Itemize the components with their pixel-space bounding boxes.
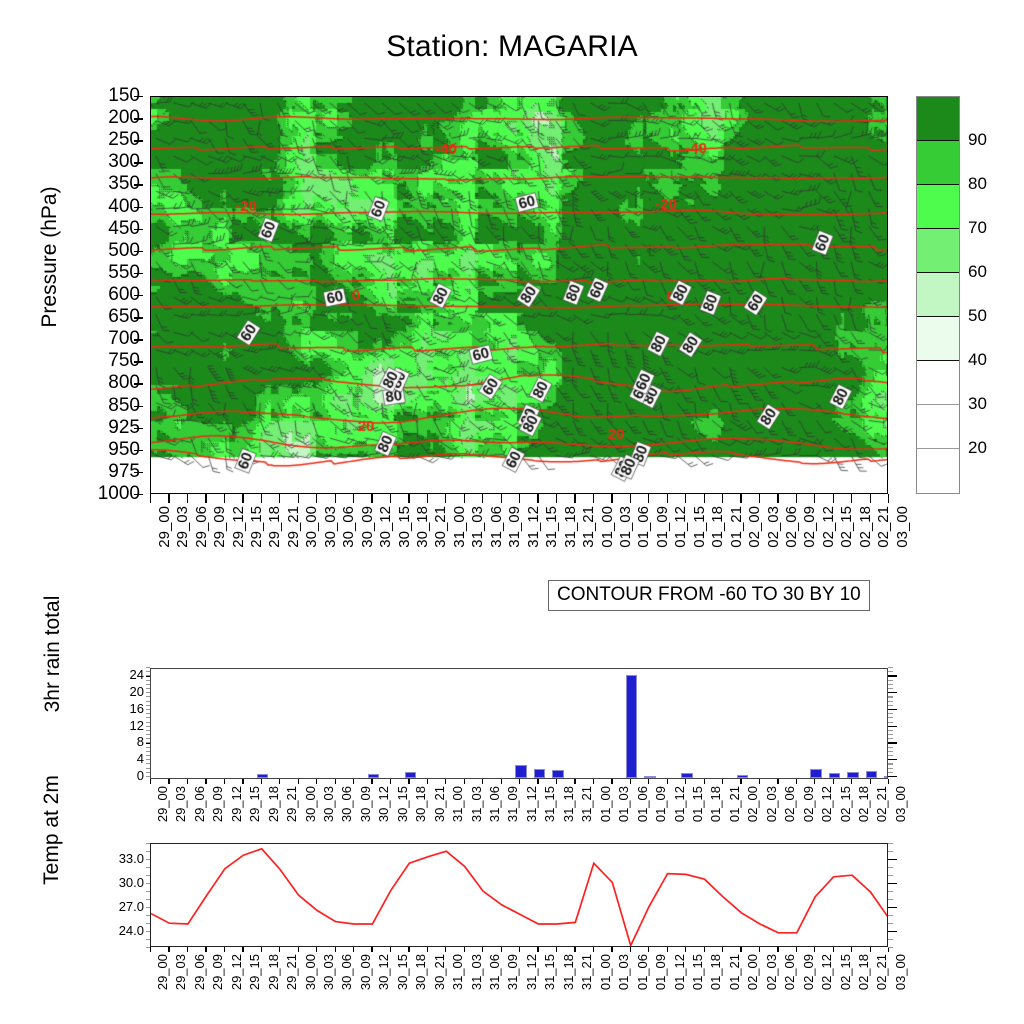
x-tickmark xyxy=(150,779,151,784)
x-axis-label: 29_12 xyxy=(229,786,244,822)
x-tickmark xyxy=(335,779,336,784)
x-axis-label: 29_00 xyxy=(155,786,170,822)
x-tickmark xyxy=(408,494,409,503)
main-y-tickmark xyxy=(134,339,143,340)
x-tickmark xyxy=(648,947,649,952)
x-axis-label: 02_12 xyxy=(819,786,834,822)
x-axis-label: 01_12 xyxy=(672,954,687,990)
main-y-tickmark xyxy=(134,140,143,141)
temp-right-tick xyxy=(888,851,893,852)
x-tickmark xyxy=(833,494,834,503)
x-axis-label: 30_09 xyxy=(358,786,373,822)
x-tickmark xyxy=(648,779,649,784)
main-y-axis-ticks: 1502002503003504004505005506006507007508… xyxy=(78,96,140,494)
rain-bar[interactable] xyxy=(681,773,692,778)
x-axis-label: 02_12 xyxy=(820,506,837,548)
x-tickmark xyxy=(556,494,557,503)
main-y-tick: 750 xyxy=(80,351,140,370)
x-tickmark xyxy=(390,494,391,503)
x-tickmark xyxy=(187,947,188,952)
colorbar-tick-label: 30 xyxy=(968,395,987,412)
x-tickmark xyxy=(704,779,705,784)
x-axis-label: 29_18 xyxy=(266,506,283,548)
x-tickmark xyxy=(851,779,852,784)
x-tickmark xyxy=(353,494,354,503)
x-tickmark xyxy=(888,494,889,503)
x-tickmark xyxy=(888,779,889,784)
temp-right-tick xyxy=(888,843,893,844)
x-tickmark xyxy=(574,779,575,784)
x-axis-label: 01_03 xyxy=(616,954,631,990)
x-axis-label: 01_18 xyxy=(708,786,723,822)
main-y-tickmark xyxy=(134,494,143,495)
x-axis-label: 30_03 xyxy=(321,954,336,990)
temp-right-tick xyxy=(888,883,897,884)
x-tickmark xyxy=(205,947,206,952)
x-axis-label: 31_15 xyxy=(542,786,557,822)
x-tickmark xyxy=(814,494,815,503)
x-tickmark xyxy=(556,947,557,952)
x-axis-label: 02_21 xyxy=(875,506,892,548)
x-axis-label: 29_15 xyxy=(247,786,262,822)
x-axis-label: 01_12 xyxy=(672,506,689,548)
x-axis-label: 01_09 xyxy=(653,954,668,990)
x-axis-label: 31_18 xyxy=(561,954,576,990)
rain-y-axis-ticks: 04812162024 xyxy=(98,668,146,779)
rain-y-tick: 8 xyxy=(98,735,144,748)
main-y-tick: 550 xyxy=(80,263,140,282)
x-axis-label: 29_18 xyxy=(266,954,281,990)
main-y-tick: 950 xyxy=(80,440,140,459)
x-axis-label: 29_06 xyxy=(193,506,210,548)
temp-right-tick xyxy=(888,867,893,868)
x-tickmark xyxy=(261,947,262,952)
rain-y-tick: 4 xyxy=(98,752,144,765)
x-axis-label: 01_03 xyxy=(616,786,631,822)
x-tickmark xyxy=(482,494,483,503)
x-tickmark xyxy=(445,779,446,784)
x-tickmark xyxy=(593,779,594,784)
x-axis-label: 02_00 xyxy=(746,506,763,548)
x-axis-label: 01_00 xyxy=(598,786,613,822)
main-y-tickmark xyxy=(134,251,143,252)
x-tickmark xyxy=(501,494,502,503)
x-axis-label: 31_21 xyxy=(579,954,594,990)
x-tickmark xyxy=(611,947,612,952)
rain-bar[interactable] xyxy=(847,772,858,778)
x-tickmark xyxy=(298,779,299,784)
x-tickmark xyxy=(630,494,631,503)
x-tickmark xyxy=(759,947,760,952)
x-axis-label: 31_18 xyxy=(561,786,576,822)
x-axis-label: 03_00 xyxy=(894,506,911,548)
x-tickmark xyxy=(833,779,834,784)
x-tickmark xyxy=(833,947,834,952)
x-tickmark xyxy=(482,947,483,952)
x-tickmark xyxy=(796,779,797,784)
x-axis-label: 30_12 xyxy=(376,954,391,990)
main-y-tick: 300 xyxy=(80,152,140,171)
x-axis-label: 31_15 xyxy=(542,954,557,990)
colorbar-tick-label: 50 xyxy=(968,307,987,324)
rain-right-tick xyxy=(888,742,897,743)
x-tickmark xyxy=(224,947,225,952)
x-axis-label: 31_21 xyxy=(580,506,597,548)
x-axis-label: 02_06 xyxy=(782,954,797,990)
main-y-tick: 925 xyxy=(80,418,140,437)
rain-y-tick: 20 xyxy=(98,685,144,698)
main-y-tick: 400 xyxy=(80,197,140,216)
rain-right-tick xyxy=(888,759,897,760)
x-tickmark xyxy=(648,494,649,503)
x-axis-label: 31_12 xyxy=(524,954,539,990)
x-axis-label: 30_09 xyxy=(359,506,376,548)
x-tickmark xyxy=(630,779,631,784)
x-axis-label: 29_21 xyxy=(284,954,299,990)
x-tickmark xyxy=(205,779,206,784)
page-title: Station: MAGARIA xyxy=(0,30,1024,64)
x-tickmark xyxy=(445,494,446,503)
x-tickmark xyxy=(224,779,225,784)
x-tickmark xyxy=(851,947,852,952)
colorbar-cell xyxy=(917,361,959,405)
x-tickmark xyxy=(150,947,151,952)
x-tickmark xyxy=(482,779,483,784)
temp-y-tick: 24.0 xyxy=(98,924,144,937)
x-axis-label: 01_21 xyxy=(727,786,742,822)
x-axis-label: 29_09 xyxy=(211,506,228,548)
x-tickmark xyxy=(298,947,299,952)
x-tickmark xyxy=(814,779,815,784)
rain-right-tick xyxy=(888,738,893,739)
main-y-tickmark xyxy=(134,207,143,208)
rain-bar-chart[interactable] xyxy=(150,668,888,779)
x-axis-label: 03_00 xyxy=(893,954,908,990)
x-axis-label: 31_09 xyxy=(506,506,523,548)
main-y-tickmark xyxy=(134,96,143,97)
x-axis-label: 31_18 xyxy=(562,506,579,548)
x-axis-label: 02_03 xyxy=(764,954,779,990)
main-y-tick: 200 xyxy=(80,108,140,127)
temperature-curve xyxy=(151,844,888,947)
x-axis-label: 30_09 xyxy=(358,954,373,990)
colorbar-tick-label: 40 xyxy=(968,351,987,368)
rain-bar[interactable] xyxy=(405,772,416,778)
x-tickmark xyxy=(759,494,760,503)
x-axis-label: 01_06 xyxy=(635,506,652,548)
x-tickmark xyxy=(150,494,151,503)
x-tickmark xyxy=(427,494,428,503)
x-tickmark xyxy=(427,947,428,952)
x-tickmark xyxy=(814,947,815,952)
x-tickmark xyxy=(279,779,280,784)
x-axis-label: 29_03 xyxy=(173,786,188,822)
x-axis-label: 30_12 xyxy=(376,786,391,822)
rain-y-tick: 12 xyxy=(98,719,144,732)
rain-bar[interactable] xyxy=(552,770,563,778)
main-y-tickmark xyxy=(134,428,143,429)
x-tickmark xyxy=(316,947,317,952)
rain-right-tick xyxy=(888,696,893,697)
x-axis-label: 31_09 xyxy=(505,954,520,990)
x-axis-label: 02_18 xyxy=(856,786,871,822)
colorbar-tick-label: 90 xyxy=(968,131,987,148)
x-axis-label: 29_03 xyxy=(173,954,188,990)
temperature-polyline xyxy=(151,849,888,946)
rain-right-tick xyxy=(888,772,893,773)
main-y-tickmark xyxy=(134,406,143,407)
main-y-tickmark xyxy=(134,295,143,296)
x-axis-label: 30_06 xyxy=(339,786,354,822)
rain-right-tick xyxy=(888,722,893,723)
temp-right-tick xyxy=(888,899,893,900)
main-y-tick: 975 xyxy=(80,462,140,481)
x-axis-label: 01_15 xyxy=(690,954,705,990)
rain-right-tick xyxy=(888,776,897,777)
x-axis-label: 29_12 xyxy=(230,506,247,548)
x-tickmark xyxy=(242,494,243,503)
rain-right-tick xyxy=(888,768,893,769)
x-tickmark xyxy=(777,779,778,784)
x-axis-label: 29_06 xyxy=(192,786,207,822)
x-axis-label: 31_00 xyxy=(451,506,468,548)
x-axis-label: 29_00 xyxy=(155,954,170,990)
temp-right-tick xyxy=(888,931,897,932)
main-y-tick: 700 xyxy=(80,329,140,348)
x-tickmark xyxy=(390,779,391,784)
temp-right-tick xyxy=(888,907,897,908)
x-axis-label: 30_21 xyxy=(432,954,447,990)
main-y-tick: 250 xyxy=(80,130,140,149)
x-tickmark xyxy=(667,779,668,784)
main-y-tickmark xyxy=(134,472,143,473)
x-tickmark xyxy=(740,947,741,952)
x-tickmark xyxy=(574,947,575,952)
rain-bar[interactable] xyxy=(534,769,545,778)
x-tickmark xyxy=(261,779,262,784)
colorbar-cell xyxy=(917,449,959,493)
rain-bar[interactable] xyxy=(810,769,821,778)
x-axis-label: 01_21 xyxy=(728,506,745,548)
time-height-contour-plot[interactable] xyxy=(150,96,888,494)
x-axis-label: 02_09 xyxy=(801,786,816,822)
x-tickmark xyxy=(519,947,520,952)
x-tickmark xyxy=(777,494,778,503)
colorbar-cell xyxy=(917,273,959,317)
main-y-tick: 650 xyxy=(80,307,140,326)
x-axis-label: 30_18 xyxy=(413,786,428,822)
x-axis-label: 31_06 xyxy=(487,786,502,822)
x-tickmark xyxy=(445,947,446,952)
x-tickmark xyxy=(168,779,169,784)
x-tickmark xyxy=(740,494,741,503)
x-axis-label: 31_06 xyxy=(487,954,502,990)
x-axis-label: 29_09 xyxy=(210,954,225,990)
rain-bar[interactable] xyxy=(866,771,877,778)
rain-right-tick xyxy=(888,717,893,718)
x-axis-label: 31_00 xyxy=(450,786,465,822)
x-axis-label: 29_09 xyxy=(210,786,225,822)
x-axis-label: 29_21 xyxy=(284,786,299,822)
main-y-tickmark xyxy=(134,450,143,451)
x-tickmark xyxy=(371,494,372,503)
x-tickmark xyxy=(205,494,206,503)
x-tickmark xyxy=(537,779,538,784)
main-y-tickmark xyxy=(134,184,143,185)
x-axis-label: 31_03 xyxy=(469,954,484,990)
x-axis-label: 02_06 xyxy=(782,786,797,822)
x-tickmark xyxy=(704,494,705,503)
x-tickmark xyxy=(704,947,705,952)
x-tickmark xyxy=(261,494,262,503)
rain-right-tick xyxy=(888,709,897,710)
rain-right-tick xyxy=(888,763,893,764)
rain-bar[interactable] xyxy=(368,774,379,778)
main-y-tick: 350 xyxy=(80,174,140,193)
x-tickmark xyxy=(537,494,538,503)
x-axis-label: 30_21 xyxy=(432,786,447,822)
temp-right-tick xyxy=(888,923,893,924)
x-tickmark xyxy=(722,779,723,784)
x-axis-label: 01_15 xyxy=(691,506,708,548)
x-tickmark xyxy=(279,947,280,952)
rain-bar[interactable] xyxy=(737,775,748,778)
rain-bar[interactable] xyxy=(515,765,526,778)
x-axis-label: 01_12 xyxy=(672,786,687,822)
temp-right-tick xyxy=(888,891,893,892)
colorbar-tick-label: 70 xyxy=(968,219,987,236)
temperature-line-chart[interactable] xyxy=(150,843,888,947)
x-tickmark xyxy=(427,779,428,784)
x-axis-label: 02_06 xyxy=(783,506,800,548)
x-axis-label: 31_09 xyxy=(505,786,520,822)
x-axis-label: 02_09 xyxy=(801,954,816,990)
x-tickmark xyxy=(371,947,372,952)
rain-right-tick xyxy=(888,705,893,706)
x-axis-label: 01_06 xyxy=(635,786,650,822)
x-tickmark xyxy=(519,494,520,503)
x-tickmark xyxy=(408,779,409,784)
rain-y-tick: 24 xyxy=(98,668,144,681)
x-tickmark xyxy=(353,947,354,952)
x-axis-label: 29_15 xyxy=(248,506,265,548)
colorbar-cell xyxy=(917,97,959,141)
x-tickmark xyxy=(316,779,317,784)
x-axis-label: 03_00 xyxy=(893,786,908,822)
rain-right-tick xyxy=(888,755,893,756)
x-axis-label: 29_18 xyxy=(266,786,281,822)
contour-canvas xyxy=(151,97,888,494)
x-tickmark xyxy=(335,494,336,503)
x-axis-label: 30_15 xyxy=(396,506,413,548)
humidity-colorbar xyxy=(916,96,960,494)
x-tickmark xyxy=(371,779,372,784)
x-tickmark xyxy=(722,494,723,503)
x-tickmark xyxy=(335,947,336,952)
main-y-tick: 600 xyxy=(80,285,140,304)
x-axis-label: 30_15 xyxy=(395,954,410,990)
colorbar-cell xyxy=(917,229,959,273)
rain-right-tick xyxy=(888,726,897,727)
rain-right-tick xyxy=(888,680,893,681)
x-axis-label: 30_18 xyxy=(413,954,428,990)
x-tickmark xyxy=(464,779,465,784)
x-axis-label: 02_09 xyxy=(801,506,818,548)
x-tickmark xyxy=(740,779,741,784)
temp-y-axis-ticks: 24.027.030.033.0 xyxy=(98,843,146,947)
rain-right-tick xyxy=(888,688,893,689)
x-axis-label: 31_00 xyxy=(450,954,465,990)
x-axis-label: 02_15 xyxy=(838,786,853,822)
main-y-tickmark xyxy=(134,118,143,119)
x-tickmark xyxy=(224,494,225,503)
rain-right-tick xyxy=(888,684,893,685)
rain-bar[interactable] xyxy=(626,675,637,778)
x-tickmark xyxy=(187,494,188,503)
x-tickmark xyxy=(685,947,686,952)
rain-y-tick: 0 xyxy=(98,769,144,782)
x-axis-label: 02_03 xyxy=(765,506,782,548)
x-axis-label: 29_21 xyxy=(285,506,302,548)
rain-bar[interactable] xyxy=(644,776,655,779)
temp-y-tick: 27.0 xyxy=(98,900,144,913)
colorbar-tick-label: 60 xyxy=(968,263,987,280)
rain-bar[interactable] xyxy=(257,774,268,778)
x-axis-label: 30_00 xyxy=(303,954,318,990)
x-axis-label: 31_12 xyxy=(524,786,539,822)
x-axis-label: 01_21 xyxy=(727,954,742,990)
x-tickmark xyxy=(796,947,797,952)
main-y-tick: 850 xyxy=(80,396,140,415)
x-axis-label: 02_15 xyxy=(838,954,853,990)
colorbar-cell xyxy=(917,405,959,449)
temp-right-tick xyxy=(888,939,893,940)
x-tickmark xyxy=(685,779,686,784)
temp-y-tick: 30.0 xyxy=(98,876,144,889)
x-tickmark xyxy=(611,494,612,503)
x-axis-label: 30_06 xyxy=(340,506,357,548)
x-axis-label: 31_21 xyxy=(579,786,594,822)
x-axis-label: 02_03 xyxy=(764,786,779,822)
x-tickmark xyxy=(685,494,686,503)
main-y-tick: 800 xyxy=(80,373,140,392)
rain-bar[interactable] xyxy=(829,773,840,778)
x-axis-label: 01_18 xyxy=(709,506,726,548)
x-tickmark xyxy=(390,947,391,952)
x-axis-label: 31_12 xyxy=(525,506,542,548)
x-tickmark xyxy=(593,947,594,952)
x-axis-label: 30_03 xyxy=(322,506,339,548)
x-axis-label: 30_06 xyxy=(339,954,354,990)
x-tickmark xyxy=(242,947,243,952)
x-tickmark xyxy=(870,779,871,784)
main-y-tick: 1000 xyxy=(80,484,140,503)
temp-y-tick: 33.0 xyxy=(98,852,144,865)
x-tickmark xyxy=(759,779,760,784)
x-axis-label: 29_00 xyxy=(156,506,173,548)
x-axis-label: 31_03 xyxy=(469,786,484,822)
colorbar-tick-label: 20 xyxy=(968,439,987,456)
x-tickmark xyxy=(667,947,668,952)
x-tickmark xyxy=(408,947,409,952)
x-axis-label: 30_00 xyxy=(303,786,318,822)
x-tickmark xyxy=(464,494,465,503)
x-tickmark xyxy=(574,494,575,503)
x-tickmark xyxy=(630,947,631,952)
x-axis-label: 31_03 xyxy=(469,506,486,548)
x-axis-label: 02_21 xyxy=(874,954,889,990)
x-tickmark xyxy=(519,779,520,784)
